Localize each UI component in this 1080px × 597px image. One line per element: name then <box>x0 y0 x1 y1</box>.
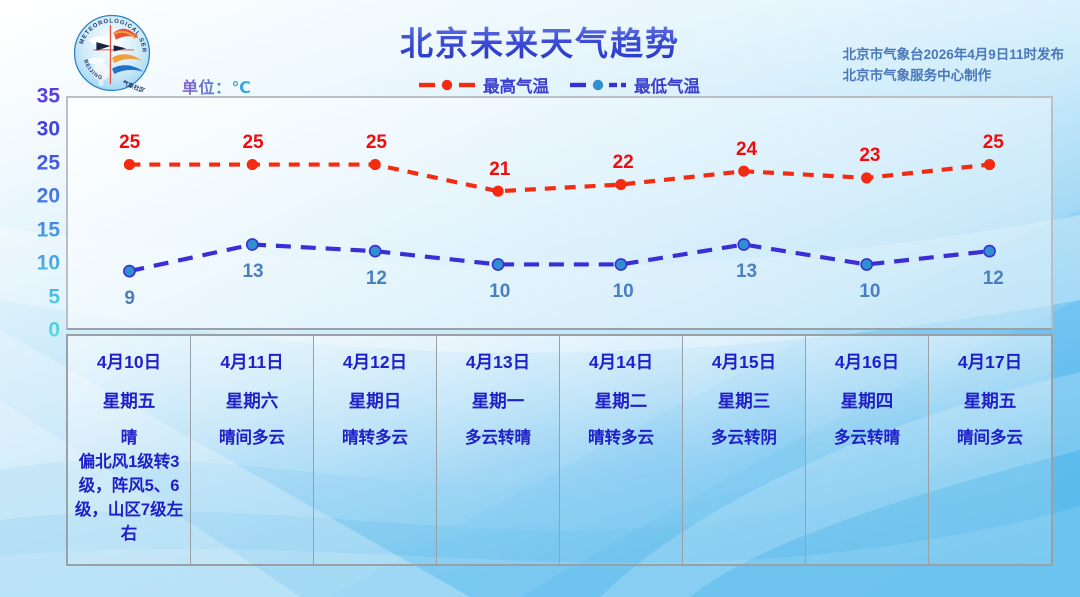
max-temp-point <box>492 186 503 197</box>
legend-label-min-temp: 最低气温 <box>634 73 700 97</box>
chart-plot-area <box>68 98 1051 331</box>
legend-marker-min-temp <box>569 78 627 92</box>
min-temp-point <box>124 266 135 277</box>
min-temp-point <box>492 259 503 270</box>
y-axis-tick: 15 <box>4 219 60 240</box>
min-temp-value-label: 10 <box>859 282 880 301</box>
max-temp-value-label: 21 <box>489 160 510 179</box>
max-temp-point <box>738 166 749 177</box>
publisher-info: 北京市气象台2026年4月9日11时发布 北京市气象服务中心制作 <box>843 45 1064 87</box>
max-temp-value-label: 25 <box>119 133 140 152</box>
forecast-weekday: 星期五 <box>72 388 186 415</box>
min-temp-point <box>370 246 381 257</box>
forecast-date: 4月13日 <box>441 349 555 376</box>
max-temp-point <box>247 159 258 170</box>
max-temp-value-label: 25 <box>366 133 387 152</box>
legend-item-max-temp: 最高气温 <box>418 73 549 97</box>
y-axis-tick: 35 <box>4 86 60 107</box>
max-temp-value-label: 23 <box>859 146 880 165</box>
forecast-column[interactable]: 4月15日星期三多云转阴 <box>683 336 806 564</box>
temperature-trend-chart: 2525252122242325913121010131012 <box>66 96 1053 330</box>
forecast-date: 4月12日 <box>318 349 432 376</box>
max-temp-value-label: 22 <box>613 153 634 172</box>
forecast-weekday: 星期六 <box>195 388 309 415</box>
max-temp-point <box>124 159 135 170</box>
min-temp-value-label: 12 <box>983 269 1004 288</box>
forecast-date: 4月16日 <box>810 349 924 376</box>
min-temp-point <box>861 259 872 270</box>
max-temp-line <box>129 165 989 192</box>
publisher-line-2: 北京市气象服务中心制作 <box>843 66 1064 87</box>
max-temp-point <box>984 159 995 170</box>
min-temp-value-label: 10 <box>613 282 634 301</box>
forecast-weekday: 星期一 <box>441 388 555 415</box>
unit-label: 单位：℃ <box>182 74 251 98</box>
legend-marker-max-temp <box>418 78 476 92</box>
forecast-column[interactable]: 4月13日星期一多云转晴 <box>437 336 560 564</box>
min-temp-point <box>984 246 995 257</box>
legend-item-min-temp: 最低气温 <box>569 73 700 97</box>
forecast-date: 4月14日 <box>564 349 678 376</box>
y-axis-tick: 25 <box>4 152 60 173</box>
forecast-column[interactable]: 4月11日星期六晴间多云 <box>191 336 314 564</box>
forecast-description: 晴转多云 <box>564 427 678 451</box>
forecast-weekday: 星期三 <box>687 388 801 415</box>
max-temp-point <box>861 172 872 183</box>
min-temp-value-label: 13 <box>242 262 263 281</box>
forecast-weekday: 星期四 <box>810 388 924 415</box>
y-axis-tick: 10 <box>4 253 60 274</box>
min-temp-value-label: 9 <box>124 289 135 308</box>
y-axis: 05101520253035 <box>0 96 60 330</box>
min-temp-point <box>247 239 258 250</box>
max-temp-point <box>615 179 626 190</box>
min-temp-value-label: 10 <box>489 282 510 301</box>
legend-label-max-temp: 最高气温 <box>483 73 549 97</box>
min-temp-value-label: 13 <box>736 262 757 281</box>
forecast-column[interactable]: 4月10日星期五晴偏北风1级转3级，阵风5、6级，山区7级左右 <box>68 336 191 564</box>
forecast-date: 4月11日 <box>195 349 309 376</box>
forecast-weekday: 星期五 <box>933 388 1047 415</box>
forecast-column[interactable]: 4月14日星期二晴转多云 <box>560 336 683 564</box>
forecast-weekday: 星期日 <box>318 388 432 415</box>
forecast-description: 晴转多云 <box>318 427 432 451</box>
y-axis-tick: 20 <box>4 186 60 207</box>
max-temp-value-label: 25 <box>983 133 1004 152</box>
forecast-weekday: 星期二 <box>564 388 678 415</box>
forecast-description: 多云转晴 <box>810 427 924 451</box>
publisher-line-1: 北京市气象台2026年4月9日11时发布 <box>843 45 1064 66</box>
y-axis-tick: 5 <box>4 286 60 307</box>
forecast-description: 晴偏北风1级转3级，阵风5、6级，山区7级左右 <box>72 427 186 547</box>
chart-legend: 最高气温 最低气温 <box>418 73 700 97</box>
min-temp-value-label: 12 <box>366 269 387 288</box>
y-axis-tick: 30 <box>4 119 60 140</box>
max-temp-value-label: 25 <box>242 133 263 152</box>
forecast-description: 多云转晴 <box>441 427 555 451</box>
forecast-date: 4月17日 <box>933 349 1047 376</box>
forecast-description: 多云转阴 <box>687 427 801 451</box>
min-temp-point <box>738 239 749 250</box>
forecast-column[interactable]: 4月17日星期五晴间多云 <box>929 336 1051 564</box>
y-axis-tick: 0 <box>4 320 60 341</box>
forecast-date: 4月10日 <box>72 349 186 376</box>
max-temp-value-label: 24 <box>736 140 757 159</box>
max-temp-point <box>370 159 381 170</box>
forecast-column[interactable]: 4月16日星期四多云转晴 <box>806 336 929 564</box>
forecast-description: 晴间多云 <box>195 427 309 451</box>
forecast-table: 4月10日星期五晴偏北风1级转3级，阵风5、6级，山区7级左右4月11日星期六晴… <box>66 334 1053 566</box>
forecast-column[interactable]: 4月12日星期日晴转多云 <box>314 336 437 564</box>
forecast-description: 晴间多云 <box>933 427 1047 451</box>
min-temp-point <box>615 259 626 270</box>
forecast-date: 4月15日 <box>687 349 801 376</box>
